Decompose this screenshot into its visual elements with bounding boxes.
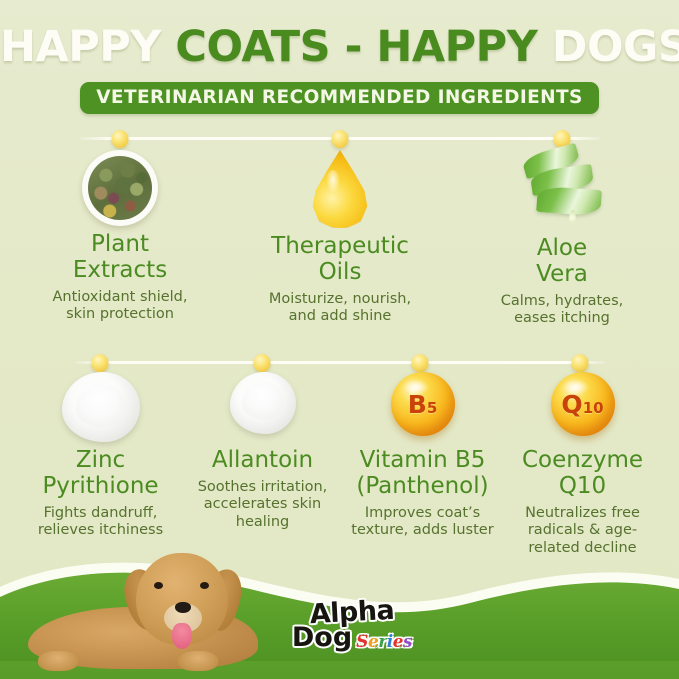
vitamin-sphere-icon: B5: [391, 372, 455, 442]
badge-main: B: [408, 390, 427, 419]
rail-line: [75, 361, 605, 364]
ingredient-card-aloe-vera: Aloe Vera Calms, hydrates, eases itching: [472, 148, 652, 328]
ingredient-description: Moisturize, nourish, and add shine: [250, 291, 430, 326]
vitamin-badge-label: Q10: [561, 392, 603, 417]
ingredient-description: Soothes irritation, accelerates skin hea…: [180, 479, 345, 532]
rail-dot-4: [92, 354, 109, 372]
ingredient-card-allantoin: Allantoin Soothes irritation, accelerate…: [180, 372, 345, 532]
infographic-root: HAPPY COATS - HAPPY DOGS VETERINARIAN RE…: [0, 0, 679, 679]
ingredient-name: Allantoin: [180, 448, 345, 474]
rail-dot-1: [112, 130, 129, 148]
vet-recommended-banner: VETERINARIAN RECOMMENDED INGREDIENTS: [80, 82, 599, 114]
ingredient-card-zinc-pyrithione: Zinc Pyrithione Fights dandruff, relieve…: [18, 372, 183, 540]
ingredient-name: Zinc Pyrithione: [18, 448, 183, 500]
ingredient-name: Coenzyme Q10: [500, 448, 665, 500]
logo-series-text: Series: [356, 634, 412, 651]
page-title: HAPPY COATS - HAPPY DOGS: [0, 22, 679, 72]
badge-main: Q: [561, 390, 582, 419]
ingredient-description: Improves coat’s texture, adds luster: [340, 505, 505, 540]
ingredient-description: Antioxidant shield, skin protection: [30, 289, 210, 324]
rail-dot-6: [412, 354, 429, 372]
ingredient-card-plant-extracts: Plant Extracts Antioxidant shield, skin …: [30, 150, 210, 324]
dog-photo: [28, 555, 278, 673]
badge-sub: 10: [583, 399, 604, 417]
brand-logo: Alpha Dog Series: [282, 599, 422, 657]
ingredient-name: Therapeutic Oils: [250, 234, 430, 286]
rail-dot-7: [572, 354, 589, 372]
badge-sub: 5: [427, 399, 437, 417]
separator-rail-row2: [75, 352, 605, 372]
rail-dot-5: [254, 354, 271, 372]
ingredient-card-therapeutic-oils: Therapeutic Oils Moisturize, nourish, an…: [250, 150, 430, 326]
ingredient-name: Vitamin B5 (Panthenol): [340, 448, 505, 500]
ingredient-description: Calms, hydrates, eases itching: [472, 293, 652, 328]
ingredient-name: Plant Extracts: [30, 232, 210, 284]
vitamin-badge-label: B5: [408, 392, 438, 417]
white-powder-icon: [62, 372, 140, 442]
title-part-coats-happy: COATS - HAPPY: [175, 22, 551, 72]
ingredient-name: Aloe Vera: [472, 236, 652, 288]
rail-dot-2: [332, 130, 349, 148]
white-powder-icon: [230, 372, 296, 442]
aloe-leaf-icon: [517, 148, 607, 230]
ingredient-description: Fights dandruff, relieves itchiness: [18, 505, 183, 540]
separator-rail-row1: [80, 128, 600, 148]
ingredient-card-vitamin-b5: B5 Vitamin B5 (Panthenol) Improves coat’…: [340, 372, 505, 540]
herb-bowl-icon: [82, 150, 158, 226]
title-part-happy: HAPPY: [0, 22, 175, 72]
vitamin-sphere-icon: Q10: [551, 372, 615, 442]
ingredient-card-coenzyme-q10: Q10 Coenzyme Q10 Neutralizes free radica…: [500, 372, 665, 558]
oil-droplet-icon: [311, 150, 369, 228]
vet-banner-wrapper: VETERINARIAN RECOMMENDED INGREDIENTS: [0, 82, 679, 114]
title-part-dogs: DOGS: [552, 22, 679, 72]
